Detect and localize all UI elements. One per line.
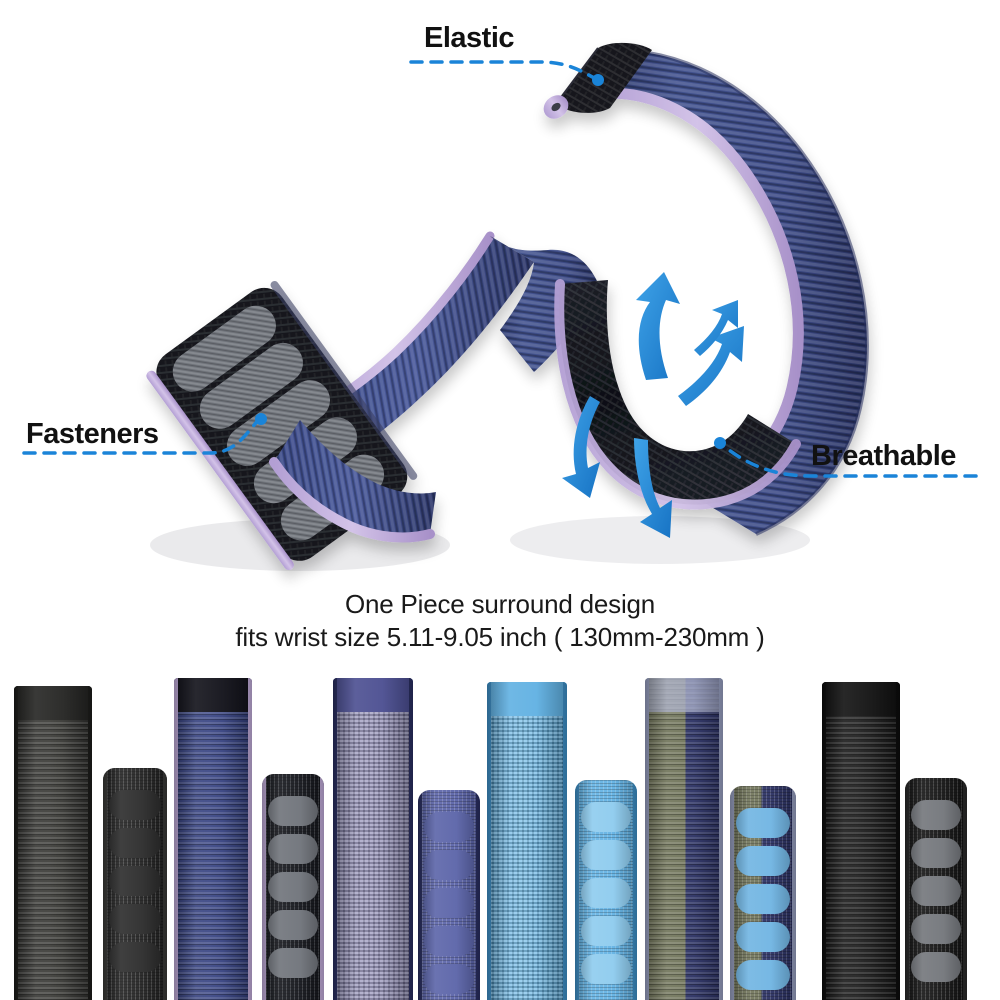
strap-swatch-fasteners-olive-navy[interactable] xyxy=(730,786,796,1000)
leader-elastic xyxy=(411,62,596,79)
color-variant-strip xyxy=(0,668,1000,1000)
callout-dot-elastic xyxy=(592,74,604,86)
strap-swatch-fasteners-pure-black[interactable] xyxy=(905,778,967,1000)
product-infographic: Elastic Fasteners Breathable One Piece s… xyxy=(0,0,1000,1000)
strap-swatch-fasteners-navy-lavender[interactable] xyxy=(262,774,324,1000)
caption-line-1: One Piece surround design xyxy=(0,589,1000,620)
strap-illustration xyxy=(0,0,1000,668)
callout-label-elastic: Elastic xyxy=(424,22,514,55)
callout-label-fasteners: Fasteners xyxy=(26,418,159,451)
callout-label-breathable: Breathable xyxy=(811,440,956,473)
strap-swatch-loop-olive-navy[interactable] xyxy=(645,678,723,1000)
strap-swatch-loop-purple-heather[interactable] xyxy=(333,678,413,1000)
strap-swatch-fasteners-purple-heather[interactable] xyxy=(418,790,480,1000)
callout-dot-fasteners xyxy=(255,413,267,425)
caption-line-2: fits wrist size 5.11-9.05 inch ( 130mm-2… xyxy=(0,622,1000,653)
callout-dot-breathable xyxy=(714,437,726,449)
strap-swatch-loop-sky-blue[interactable] xyxy=(487,682,567,1000)
hero-product-illustration: Elastic Fasteners Breathable One Piece s… xyxy=(0,0,1000,668)
strap-swatch-loop-pure-black[interactable] xyxy=(822,682,900,1000)
strap-swatch-loop-navy-lavender[interactable] xyxy=(174,678,252,1000)
strap-swatch-fasteners-sky-blue[interactable] xyxy=(575,780,637,1000)
strap-swatch-loop-charcoal-black[interactable] xyxy=(14,686,92,1000)
strap-swatch-fasteners-charcoal-black[interactable] xyxy=(103,768,167,1000)
